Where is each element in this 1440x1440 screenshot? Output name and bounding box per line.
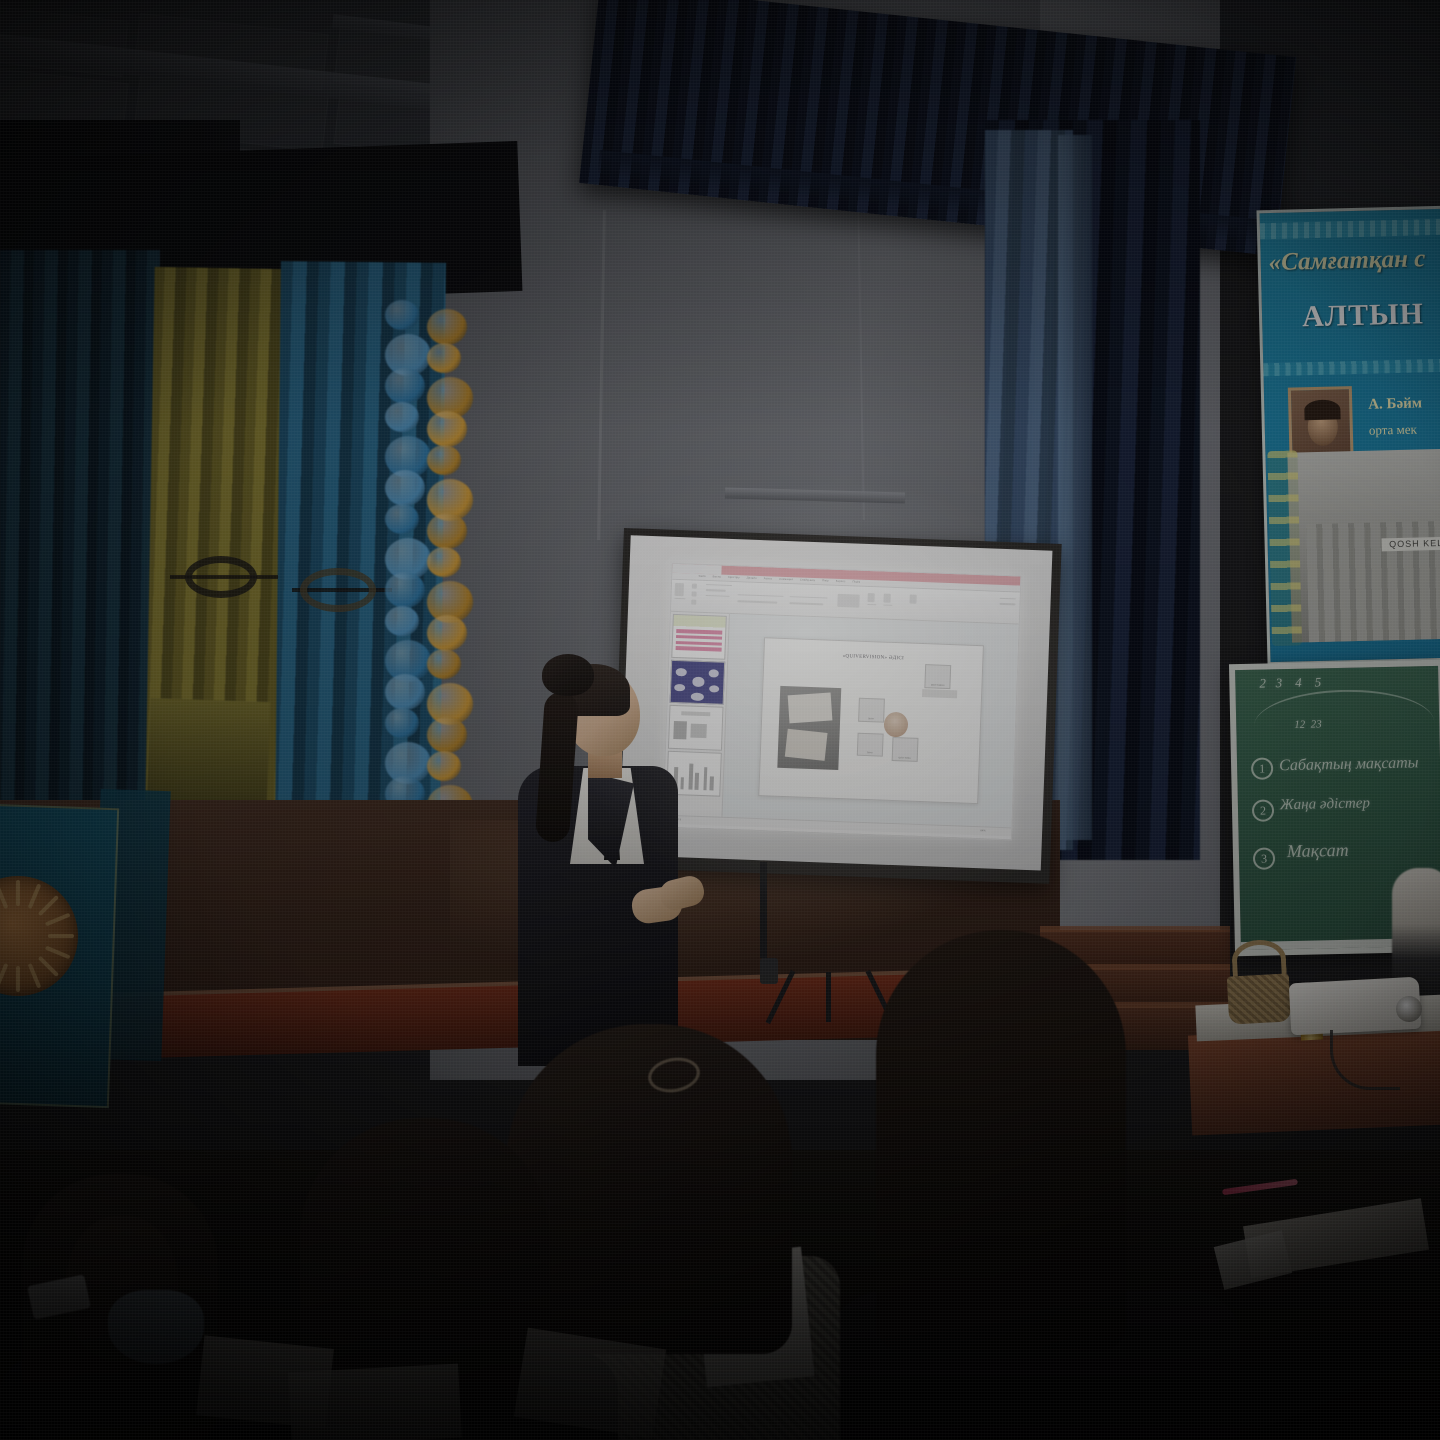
- balloon: [427, 615, 467, 651]
- slide-card-4: Quiver Fashion: [924, 664, 951, 688]
- photo-scene: «Самғатқан с АЛТЫН А. Бәйм орта мек QOSH…: [0, 0, 1440, 1440]
- emblem-ray: [28, 963, 42, 989]
- balloon: [427, 309, 467, 345]
- chalk-item-number-2: 2: [1252, 799, 1274, 821]
- right-drape-fold: [1058, 135, 1092, 840]
- emblem-ray: [16, 880, 20, 906]
- slides-group-line-2: [706, 589, 726, 591]
- balloon: [385, 402, 419, 432]
- tripod-hub: [760, 958, 778, 984]
- balloon: [385, 572, 425, 608]
- banner-ornament-top: [1260, 219, 1440, 239]
- chalk-item-number-3: 3: [1253, 847, 1275, 869]
- find-line[interactable]: [1000, 597, 1016, 599]
- tab-slideshow[interactable]: Слайд-шоу: [800, 579, 815, 583]
- font-row-1: [738, 594, 784, 597]
- tripod-post: [760, 862, 767, 958]
- balloon-column: [383, 300, 475, 840]
- font-row-2: [738, 600, 778, 603]
- stage-step-lip: [1040, 926, 1230, 932]
- chalk-item-text-1: Сабақтың мақсаты: [1279, 754, 1419, 775]
- tab-insert[interactable]: Кірістіру: [728, 576, 740, 579]
- audience-member-4: [876, 930, 1126, 1350]
- chalk-top-marks: 2 3 4 5: [1259, 674, 1321, 691]
- screen-tripod-stand: [760, 862, 910, 1022]
- slide-card-3: Quiver Masks: [891, 737, 918, 761]
- presenter-hair-bun: [542, 654, 594, 696]
- tab-view[interactable]: Көрініс: [836, 580, 846, 583]
- tab-home[interactable]: Басты: [713, 575, 722, 578]
- slide-face-graphic: [883, 712, 908, 738]
- shapes-gallery-icon[interactable]: [837, 593, 859, 607]
- powerpoint-body: «QUIVERVISION» ӘДІСІ Quiver Quiver: [664, 611, 1019, 827]
- portrait-hair: [1304, 399, 1340, 420]
- tab-format[interactable]: Пішім: [852, 581, 860, 584]
- powerpoint-window[interactable]: Файл Басты Кірістіру Дизайн Ауысу Анимац…: [662, 562, 1022, 840]
- emblem-ray: [45, 913, 71, 927]
- chalk-item-text-2: Жаңа әдістер: [1280, 795, 1370, 814]
- slides-group-line-3: [706, 595, 730, 597]
- new-slide-icon[interactable]: [692, 583, 697, 588]
- balloon: [385, 470, 425, 506]
- slide-photo-collage: [778, 686, 842, 770]
- banner-school-line-2: орта мек: [1369, 422, 1417, 439]
- chalk-arc-mark: [1254, 688, 1435, 726]
- slide-card-1: Quiver: [858, 698, 885, 722]
- balloon: [385, 708, 419, 738]
- balloon: [427, 513, 467, 549]
- audience-member-1-face-mask: [108, 1290, 204, 1364]
- tab-animations[interactable]: Анимация: [779, 578, 793, 582]
- emblem-ray: [16, 966, 20, 992]
- balloon: [385, 504, 419, 534]
- quick-access-toolbar[interactable]: [675, 564, 697, 571]
- arrange-icon[interactable]: [868, 593, 875, 602]
- banner-school-building-photo: QOSH KELDI: [1287, 449, 1440, 643]
- emblem-ray: [0, 963, 8, 989]
- balloon: [427, 445, 461, 475]
- banner-ornament-mid: [1263, 359, 1440, 376]
- balloon: [385, 368, 425, 404]
- balloon: [427, 411, 467, 447]
- emblem-ray: [38, 956, 59, 977]
- editing-icon[interactable]: [910, 594, 917, 603]
- emblem-ray: [48, 934, 74, 938]
- balloon: [385, 300, 419, 330]
- balloon: [385, 674, 425, 710]
- zoom-level[interactable]: 64%: [980, 829, 985, 832]
- desk-paper-4: [288, 1364, 462, 1440]
- paste-label: [675, 597, 686, 599]
- chalk-under-marks: 12 23: [1294, 718, 1322, 731]
- quick-styles-icon[interactable]: [884, 593, 891, 602]
- slide-card-2: Quiver: [857, 733, 884, 757]
- balloon: [427, 343, 461, 373]
- paragraph-row-2: [790, 602, 824, 605]
- slide-title: «QUIVERVISION» ӘДІСІ: [764, 651, 982, 664]
- arrange-label: [868, 604, 877, 606]
- balloon: [427, 547, 461, 577]
- banner-line-1: «Самғатқан с: [1268, 245, 1440, 277]
- emblem-ray: [28, 883, 42, 909]
- quick-styles-label: [884, 604, 893, 606]
- slide-banner-strip: [922, 689, 957, 698]
- layout-icon[interactable]: [692, 591, 697, 596]
- curtain-tieback-yellow: [185, 556, 257, 598]
- qosh-keldiniz-sign: QOSH KELDI: [1382, 536, 1440, 551]
- tab-review[interactable]: Пікір: [822, 579, 829, 582]
- tripod-leg-center: [826, 972, 831, 1022]
- replace-line[interactable]: [1000, 603, 1016, 605]
- stage-curtain-dark-left: [0, 250, 160, 840]
- balloon: [427, 751, 461, 781]
- current-slide[interactable]: «QUIVERVISION» ӘДІСІ Quiver Quiver: [758, 637, 983, 804]
- banner-school-line-1: А. Бәйм: [1368, 395, 1422, 413]
- emblem-ray: [38, 895, 59, 916]
- tab-design[interactable]: Дизайн: [747, 577, 757, 580]
- slide-editing-area[interactable]: «QUIVERVISION» ӘДІСІ Quiver Quiver: [723, 614, 1019, 828]
- balloon: [385, 606, 419, 636]
- paragraph-row-1: [790, 596, 828, 599]
- emblem-ray: [45, 946, 71, 960]
- paste-icon[interactable]: [675, 583, 684, 596]
- presenter: [492, 640, 692, 1060]
- wicker-basket: [1227, 973, 1291, 1024]
- chalk-item-number-1: 1: [1251, 757, 1273, 779]
- wall-banner: «Самғатқан с АЛТЫН А. Бәйм орта мек QOSH…: [1256, 206, 1440, 666]
- emblem-ray: [0, 883, 8, 909]
- slides-group-line-1: [706, 584, 732, 587]
- curtain-tieback-blue: [300, 568, 376, 612]
- side-table-body: [1188, 1024, 1440, 1135]
- tab-file[interactable]: Файл: [698, 575, 705, 578]
- banner-ornament-side: [1267, 450, 1302, 646]
- balloon: [427, 717, 467, 753]
- chalk-item-text-3: Мақсат: [1287, 840, 1349, 862]
- tab-transitions[interactable]: Ауысу: [764, 577, 773, 580]
- reset-icon[interactable]: [691, 599, 696, 604]
- banner-line-2: АЛТЫН: [1302, 296, 1440, 334]
- balloon: [427, 649, 461, 679]
